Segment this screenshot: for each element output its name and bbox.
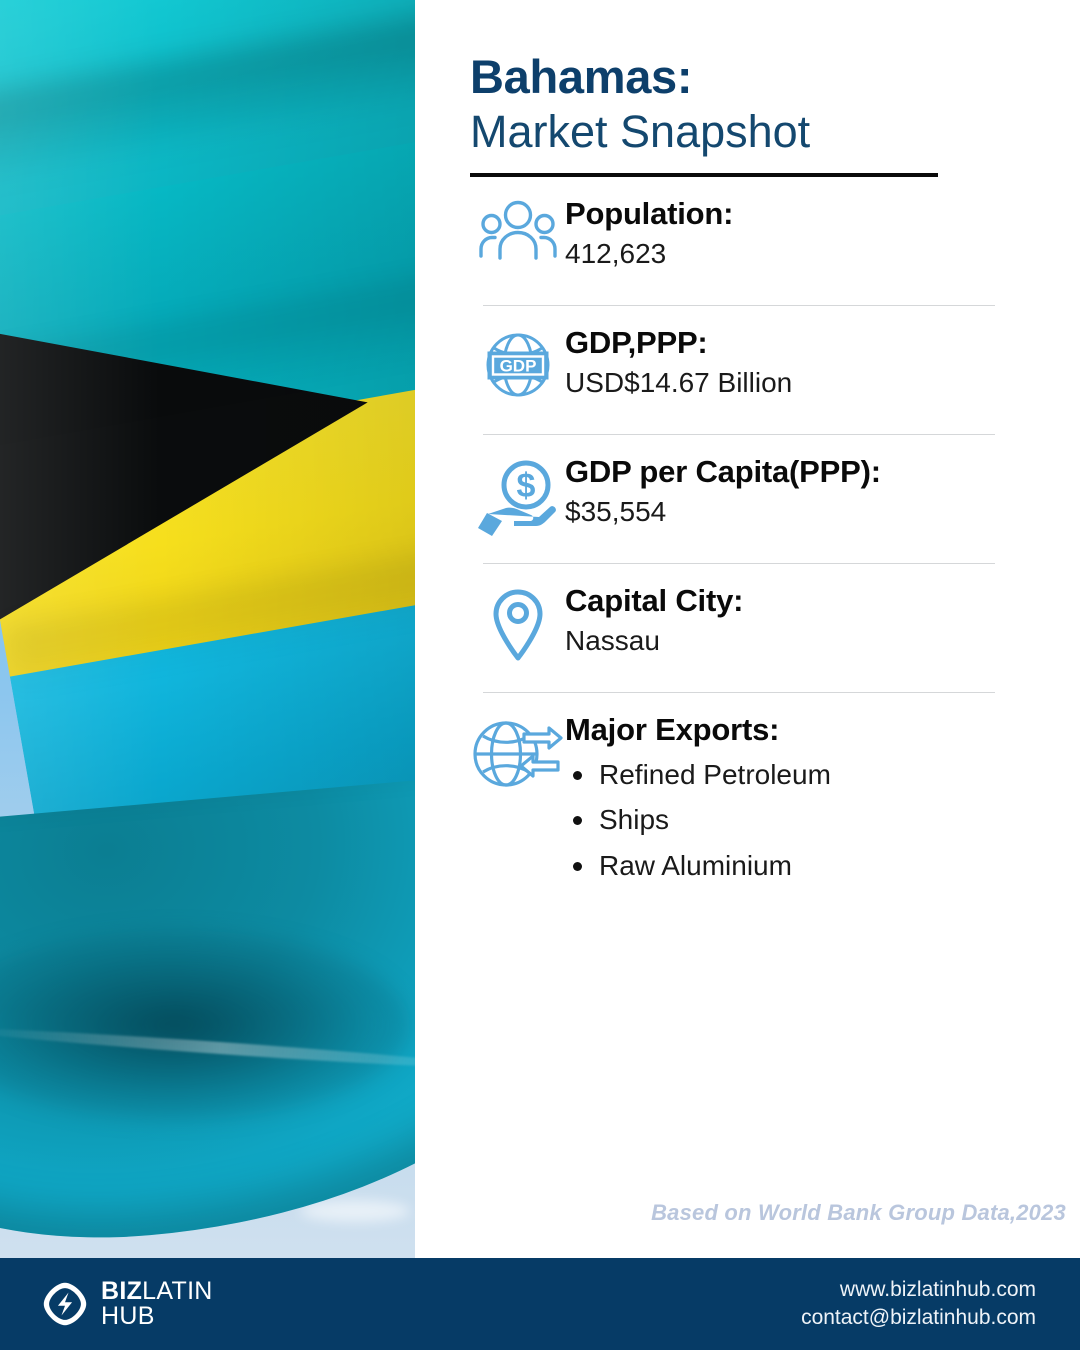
map-pin-icon: [470, 581, 565, 663]
stat-label: Population:: [565, 196, 1080, 233]
source-note: Based on World Bank Group Data,2023: [651, 1200, 1066, 1226]
stat-text: GDP per Capita(PPP): $35,554: [565, 452, 1080, 530]
dollar-glyph: $: [516, 467, 535, 505]
stat-label: GDP,PPP:: [565, 325, 1080, 362]
stat-value: 412,623: [565, 235, 1080, 273]
hand-coin-icon: $: [470, 452, 565, 538]
gdp-badge-label: GDP: [499, 357, 536, 376]
stat-row-population: Population: 412,623: [470, 177, 1080, 305]
list-item: Raw Aluminium: [565, 843, 1080, 888]
stat-text: Capital City: Nassau: [565, 581, 1080, 659]
stats-list: Population: 412,623 GDP GDP,PP: [415, 177, 1080, 888]
stat-row-capital-city: Capital City: Nassau: [470, 564, 1080, 692]
brand-wordmark: BIZLATIN HUB: [101, 1279, 213, 1330]
brand-line-2: HUB: [101, 1304, 213, 1330]
brand-biz: BIZ: [101, 1277, 142, 1305]
stat-row-gdp-ppp: GDP GDP,PPP: USD$14.67 Billion: [470, 306, 1080, 434]
stat-text: Major Exports: Refined Petroleum Ships R…: [565, 710, 1080, 888]
brand-logo[interactable]: BIZLATIN HUB: [0, 1279, 213, 1330]
page-title: Bahamas: Market Snapshot: [415, 0, 1080, 177]
brand-line-1: BIZLATIN: [101, 1279, 213, 1305]
stat-label: Capital City:: [565, 583, 1080, 620]
brand-latin: LATIN: [142, 1277, 213, 1305]
bizlatinhub-logo-icon: [42, 1281, 88, 1327]
globe-gdp-icon: GDP: [470, 323, 565, 401]
list-item: Ships: [565, 797, 1080, 842]
stat-row-gdp-per-capita: $ GDP per Capita(PPP): $35,554: [470, 435, 1080, 563]
stat-label: GDP per Capita(PPP):: [565, 454, 1080, 491]
flag-image-panel: [0, 0, 415, 1258]
content-panel: Bahamas: Market Snapshot Population: 412…: [415, 0, 1080, 1258]
email-link[interactable]: contact@bizlatinhub.com: [801, 1304, 1036, 1332]
website-link[interactable]: www.bizlatinhub.com: [801, 1276, 1036, 1304]
stat-value: USD$14.67 Billion: [565, 364, 1080, 402]
stat-row-major-exports: Major Exports: Refined Petroleum Ships R…: [470, 693, 1080, 888]
globe-trade-arrows-icon: [470, 710, 565, 792]
list-item: Refined Petroleum: [565, 752, 1080, 797]
title-country: Bahamas:: [470, 52, 1080, 101]
footer-bar: BIZLATIN HUB www.bizlatinhub.com contact…: [0, 1258, 1080, 1350]
title-subtitle: Market Snapshot: [470, 105, 1080, 159]
exports-label: Major Exports:: [565, 712, 1080, 749]
stat-value: Nassau: [565, 622, 1080, 660]
people-group-icon: [470, 194, 565, 262]
stat-value: $35,554: [565, 493, 1080, 531]
contact-info: www.bizlatinhub.com contact@bizlatinhub.…: [801, 1276, 1080, 1332]
stat-text: Population: 412,623: [565, 194, 1080, 272]
stat-text: GDP,PPP: USD$14.67 Billion: [565, 323, 1080, 401]
exports-list: Refined Petroleum Ships Raw Aluminium: [565, 752, 1080, 888]
cloud: [300, 1200, 410, 1222]
